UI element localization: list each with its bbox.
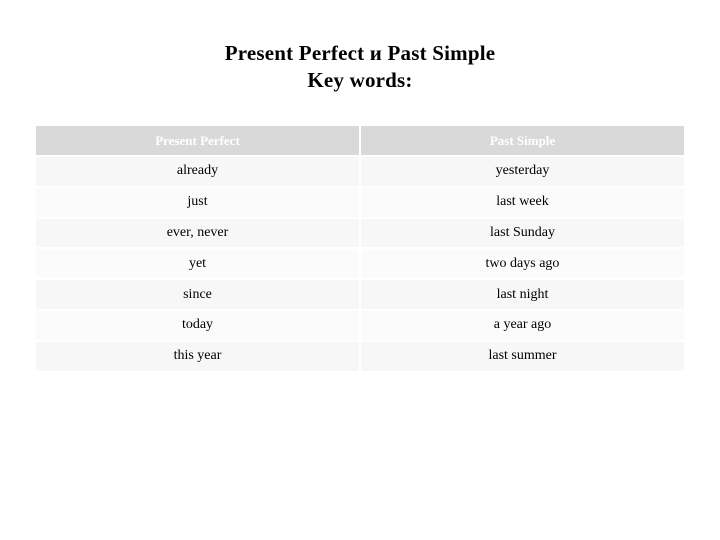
cell-past-simple: two days ago <box>360 248 684 279</box>
cell-past-simple: last Sunday <box>360 218 684 249</box>
cell-present-perfect: yet <box>36 248 360 279</box>
cell-present-perfect: since <box>36 279 360 310</box>
cell-past-simple: yesterday <box>360 156 684 187</box>
cell-present-perfect: ever, never <box>36 218 360 249</box>
table-row: today a year ago <box>36 310 684 341</box>
keywords-table-container: Present Perfect Past Simple already yest… <box>36 126 684 373</box>
column-header-present-perfect: Present Perfect <box>36 126 360 156</box>
cell-present-perfect: this year <box>36 341 360 372</box>
title-line-1: Present Perfect и Past Simple <box>0 40 720 67</box>
column-header-past-simple: Past Simple <box>360 126 684 156</box>
cell-past-simple: last week <box>360 187 684 218</box>
table-row: yet two days ago <box>36 248 684 279</box>
page-title: Present Perfect и Past Simple Key words: <box>0 40 720 94</box>
cell-past-simple: last night <box>360 279 684 310</box>
title-line-2: Key words: <box>0 67 720 94</box>
table-header-row: Present Perfect Past Simple <box>36 126 684 156</box>
table-row: since last night <box>36 279 684 310</box>
table-row: already yesterday <box>36 156 684 187</box>
keywords-table: Present Perfect Past Simple already yest… <box>36 126 684 373</box>
table-header: Present Perfect Past Simple <box>36 126 684 156</box>
slide: Present Perfect и Past Simple Key words:… <box>0 0 720 540</box>
table-row: this year last summer <box>36 341 684 372</box>
table-row: just last week <box>36 187 684 218</box>
cell-past-simple: last summer <box>360 341 684 372</box>
cell-present-perfect: already <box>36 156 360 187</box>
table-body: already yesterday just last week ever, n… <box>36 156 684 372</box>
cell-present-perfect: just <box>36 187 360 218</box>
cell-present-perfect: today <box>36 310 360 341</box>
cell-past-simple: a year ago <box>360 310 684 341</box>
table-row: ever, never last Sunday <box>36 218 684 249</box>
